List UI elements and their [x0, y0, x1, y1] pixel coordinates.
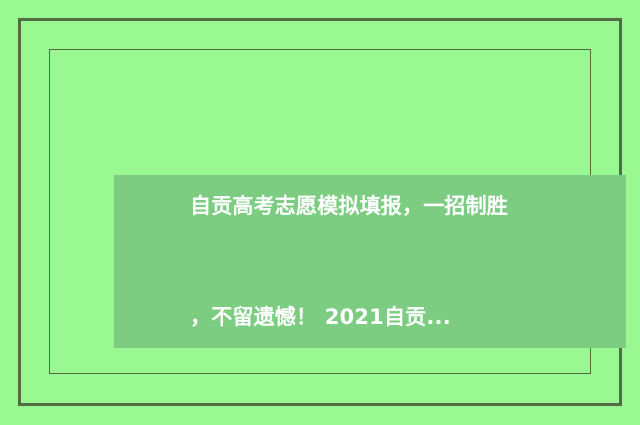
headline-panel: 自贡高考志愿模拟填报，一招制胜 ，不留遗憾！ 2021自贡...	[114, 175, 626, 348]
thumbnail-canvas: 自贡高考志愿模拟填报，一招制胜 ，不留遗憾！ 2021自贡...	[0, 0, 640, 425]
decorative-frame-outer: 自贡高考志愿模拟填报，一招制胜 ，不留遗憾！ 2021自贡...	[18, 18, 622, 406]
headline-line-2: ，不留遗憾！ 2021自贡...	[190, 299, 508, 336]
headline-line-1: 自贡高考志愿模拟填报，一招制胜	[190, 188, 508, 225]
headline-text: 自贡高考志愿模拟填报，一招制胜 ，不留遗憾！ 2021自贡...	[190, 114, 508, 410]
decorative-frame-inner: 自贡高考志愿模拟填报，一招制胜 ，不留遗憾！ 2021自贡...	[49, 49, 591, 374]
